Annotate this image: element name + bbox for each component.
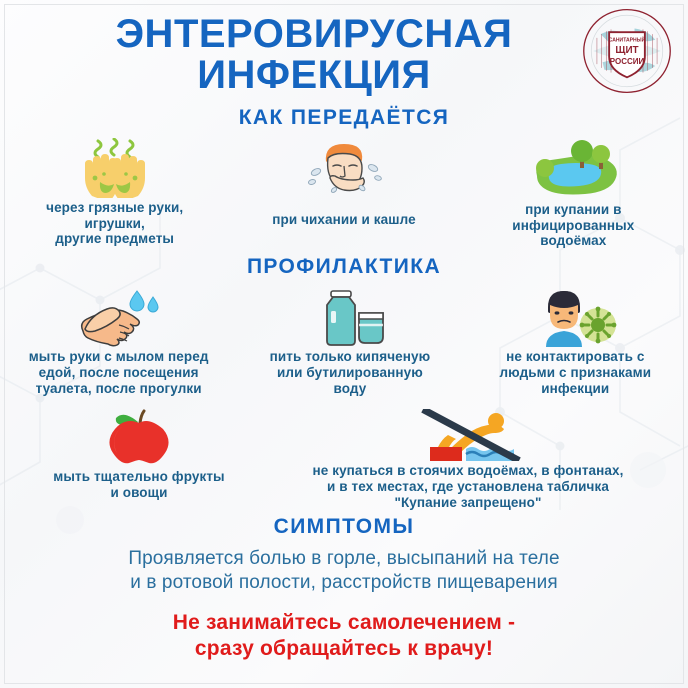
- caption-line: игрушки,: [6, 216, 223, 232]
- caption-line: мыть руки с мылом перед: [4, 349, 233, 365]
- sanitary-shield-logo: САНИТАРНЫЙ ЩИТ РОССИИ: [580, 4, 674, 98]
- section-heading-prevention: ПРОФИЛАКТИКА: [0, 255, 688, 279]
- prevention-caption-3: не контактировать с людьми с признаками …: [467, 349, 684, 397]
- prevention-item-no-swimming: не купаться в стоячих водоёмах, в фонтан…: [263, 405, 673, 511]
- caption-line: "Купание запрещено": [269, 495, 667, 511]
- pond-lake-icon: [465, 136, 682, 198]
- prevention-item-boiled-water: пить только кипяченую или бутилированную…: [237, 285, 462, 397]
- caption-line: инфицированных: [465, 218, 682, 234]
- caption-line: при чихании и кашле: [235, 212, 452, 228]
- bottle-and-glass-icon: [241, 285, 458, 347]
- red-apple-icon: [21, 405, 257, 467]
- washing-hands-icon: [4, 285, 233, 347]
- page-title: ЭНТЕРОВИРУСНАЯ ИНФЕКЦИЯ: [10, 14, 618, 96]
- sick-person-virus-icon: [467, 285, 684, 347]
- caption-line: мыть тщательно фрукты: [21, 469, 257, 485]
- caption-line: туалета, после прогулки: [4, 381, 233, 397]
- logo-line-1: САНИТАРНЫЙ: [609, 36, 646, 44]
- prevention-item-wash-hands: мыть руки с мылом перед едой, после посе…: [0, 285, 237, 397]
- prevention-caption-2: пить только кипяченую или бутилированную…: [241, 349, 458, 397]
- symptoms-description: Проявляется болью в горле, высыпаний на …: [22, 547, 666, 596]
- caption-line: другие предметы: [6, 231, 223, 247]
- prevention-item-wash-produce: мыть тщательно фрукты и овощи: [15, 405, 263, 501]
- sneezing-coughing-person-icon: [235, 136, 452, 198]
- transmission-item-sneezing: при чихании и кашле: [229, 136, 458, 228]
- prevention-items-row-1: мыть руки с мылом перед едой, после посе…: [0, 285, 688, 397]
- symptoms-line: Проявляется болью в горле, высыпаний на …: [22, 547, 666, 571]
- caption-line: людьми с признаками: [467, 365, 684, 381]
- caption-line: через грязные руки,: [6, 200, 223, 216]
- section-heading-transmission: КАК ПЕРЕДАЁТСЯ: [0, 106, 688, 130]
- transmission-caption-3: при купании в инфицированных водоёмах: [465, 200, 682, 250]
- transmission-caption-1: через грязные руки, игрушки, другие пред…: [6, 200, 223, 248]
- warning-line: сразу обращайтесь к врачу!: [20, 636, 668, 662]
- logo-line-3: РОССИИ: [610, 57, 645, 66]
- prevention-caption-5: не купаться в стоячих водоёмах, в фонтан…: [269, 463, 667, 511]
- caption-line: водоёмах: [465, 233, 682, 249]
- warning-line: Не занимайтесь самолечением -: [20, 610, 668, 636]
- dirty-hands-icon: [6, 136, 223, 198]
- transmission-item-dirty-hands: через грязные руки, игрушки, другие пред…: [0, 136, 229, 248]
- logo-line-2: ЩИТ: [615, 45, 638, 56]
- caption-line: или бутилированную: [241, 365, 458, 381]
- title-line-1: ЭНТЕРОВИРУСНАЯ: [116, 12, 513, 56]
- caption-line: едой, после посещения: [4, 365, 233, 381]
- prevention-items-row-2: мыть тщательно фрукты и овощи: [0, 405, 688, 511]
- no-diving-swimming-icon: [269, 405, 667, 461]
- caption-line: инфекции: [467, 381, 684, 397]
- caption-line: воду: [241, 381, 458, 397]
- symptoms-line: и в ротовой полости, расстройств пищевар…: [22, 571, 666, 595]
- section-heading-symptoms: СИМПТОМЫ: [0, 515, 688, 539]
- title-line-2: ИНФЕКЦИЯ: [10, 55, 618, 96]
- infographic-poster: ЭНТЕРОВИРУСНАЯ ИНФЕКЦИЯ: [0, 0, 688, 688]
- transmission-item-pond: при купании в инфицированных водоёмах: [459, 136, 688, 250]
- caption-line: и овощи: [21, 485, 257, 501]
- transmission-caption-2: при чихании и кашле: [235, 200, 452, 228]
- prevention-item-avoid-contact: не контактировать с людьми с признаками …: [463, 285, 688, 397]
- caption-line: и в тех местах, где установлена табличка: [269, 479, 667, 495]
- warning-message: Не занимайтесь самолечением - сразу обра…: [20, 610, 668, 662]
- prevention-caption-1: мыть руки с мылом перед едой, после посе…: [4, 349, 233, 397]
- caption-line: не купаться в стоячих водоёмах, в фонтан…: [269, 463, 667, 479]
- transmission-items-row: через грязные руки, игрушки, другие пред…: [0, 136, 688, 250]
- caption-line: при купании в: [465, 202, 682, 218]
- prevention-caption-4: мыть тщательно фрукты и овощи: [21, 469, 257, 501]
- poster-header: ЭНТЕРОВИРУСНАЯ ИНФЕКЦИЯ: [0, 0, 688, 96]
- caption-line: не контактировать с: [467, 349, 684, 365]
- caption-line: пить только кипяченую: [241, 349, 458, 365]
